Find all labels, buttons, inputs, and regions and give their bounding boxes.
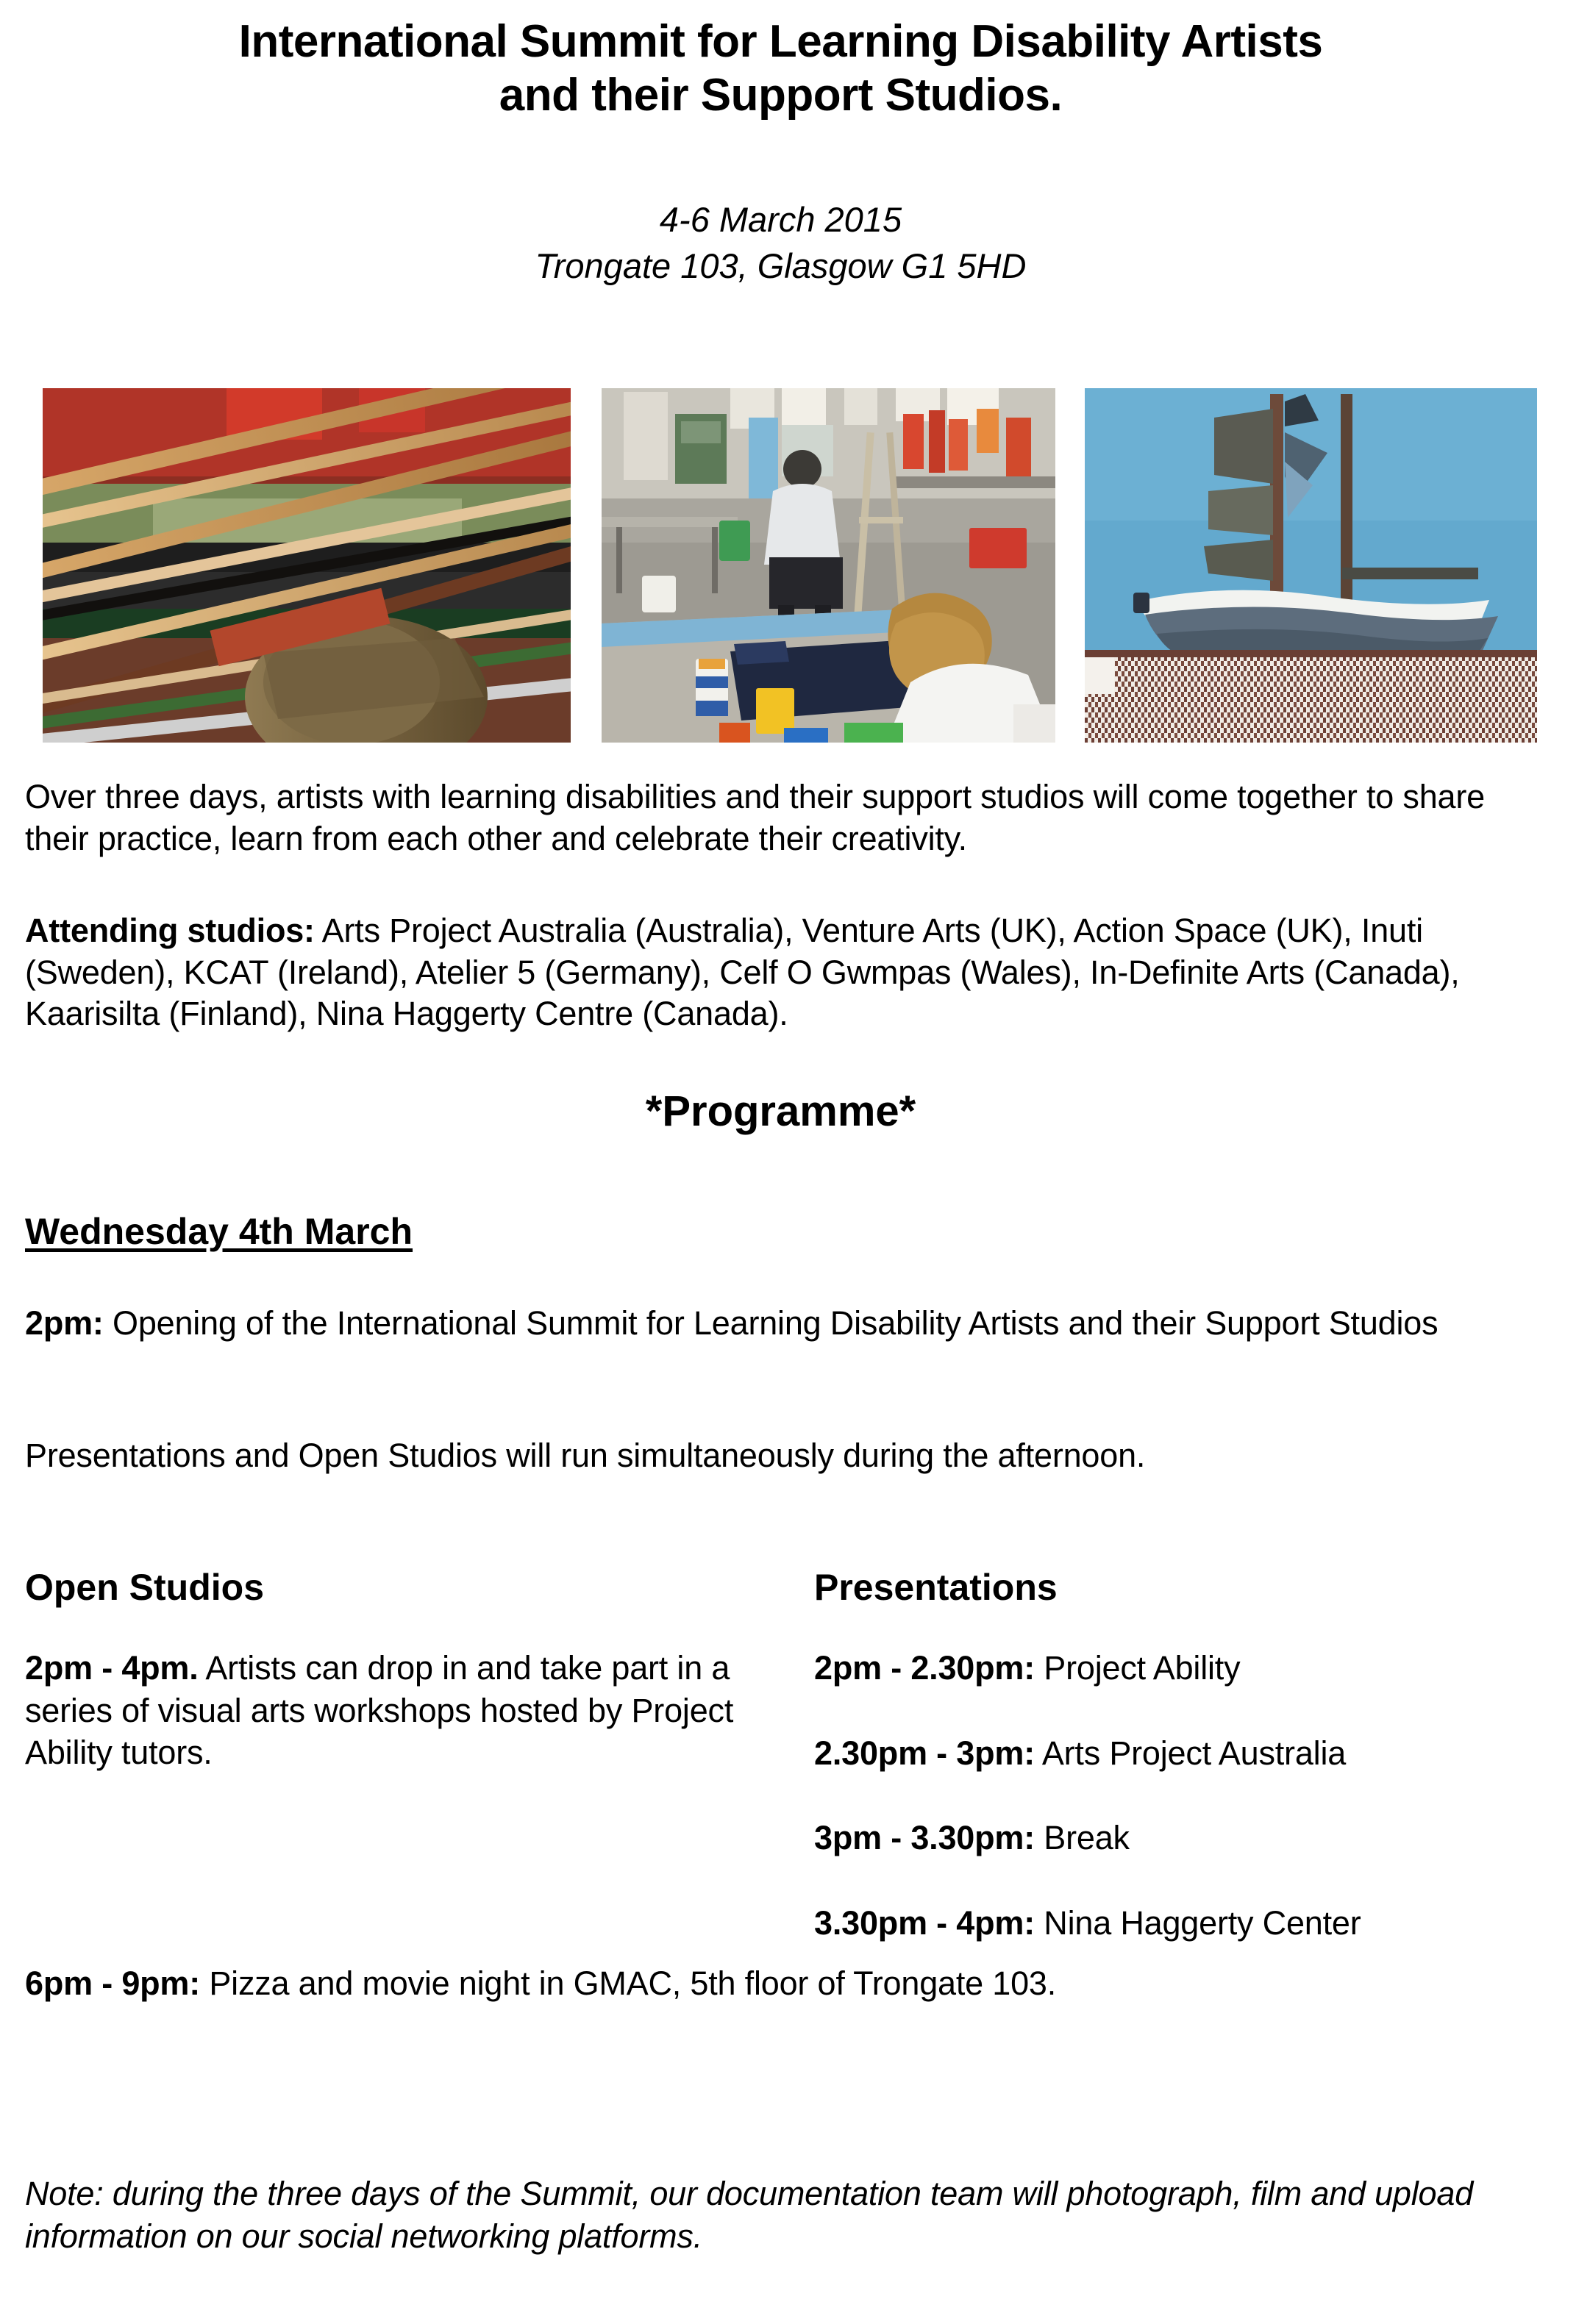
opening-session: 2pm: Opening of the International Summit…: [25, 1303, 1536, 1345]
page-title-line-2: and their Support Studios.: [25, 68, 1536, 122]
studio-interior-svg: [602, 388, 1055, 743]
intro-paragraph: Over three days, artists with learning d…: [25, 776, 1536, 859]
presentation-item-time: 2pm - 2.30pm:: [814, 1649, 1035, 1687]
simultaneous-note: Presentations and Open Studios will run …: [25, 1435, 1536, 1477]
attending-studios-wrap: Attending studios: Arts Project Australi…: [25, 910, 1536, 1035]
attending-studios-paragraph: Attending studios: Arts Project Australi…: [25, 910, 1536, 1035]
open-studios-heading: Open Studios: [25, 1566, 742, 1609]
page-title: International Summit for Learning Disabi…: [25, 15, 1536, 122]
intro-paragraph-wrap: Over three days, artists with learning d…: [25, 776, 1536, 859]
attending-studios-label: Attending studios:: [25, 912, 315, 949]
paint-brushes-svg: [43, 388, 571, 743]
presentation-item-text: Project Ability: [1035, 1649, 1240, 1687]
footer-note: Note: during the three days of the Summi…: [25, 2173, 1566, 2257]
open-studios-item: 2pm - 4pm. Artists can drop in and take …: [25, 1647, 742, 1774]
opening-session-text: Opening of the International Summit for …: [104, 1304, 1439, 1342]
presentation-item: 3.30pm - 4pm: Nina Haggerty Center: [814, 1902, 1550, 1945]
subtitle-block: 4-6 March 2015 Trongate 103, Glasgow G1 …: [25, 197, 1536, 290]
event-dates-and-venue: 4-6 March 2015 Trongate 103, Glasgow G1 …: [25, 197, 1536, 290]
evening-event-time: 6pm - 9pm:: [25, 1964, 200, 2002]
event-dates: 4-6 March 2015: [25, 197, 1536, 243]
boat-painting-illustration: [1085, 388, 1537, 743]
opening-session-wrap: 2pm: Opening of the International Summit…: [25, 1303, 1536, 1345]
presentation-item-text: Arts Project Australia: [1035, 1734, 1346, 1772]
open-studios-column: Open Studios 2pm - 4pm. Artists can drop…: [25, 1566, 742, 1774]
studio-interior-illustration: [602, 388, 1055, 743]
day-heading-wednesday: Wednesday 4th March: [25, 1210, 413, 1253]
open-studios-item-time: 2pm - 4pm.: [25, 1649, 199, 1687]
presentation-item: 2pm - 2.30pm: Project Ability: [814, 1647, 1550, 1690]
presentations-heading: Presentations: [814, 1566, 1550, 1609]
boat-painting-photo: [1085, 388, 1537, 743]
event-venue: Trongate 103, Glasgow G1 5HD: [25, 243, 1536, 290]
programme-heading: *Programme*: [25, 1087, 1536, 1136]
studio-interior-photo: [602, 388, 1055, 743]
evening-event: 6pm - 9pm: Pizza and movie night in GMAC…: [25, 1963, 1536, 2005]
evening-event-text: Pizza and movie night in GMAC, 5th floor…: [200, 1964, 1056, 2002]
presentation-item-time: 2.30pm - 3pm:: [814, 1734, 1035, 1772]
page-title-line-1: International Summit for Learning Disabi…: [25, 15, 1536, 68]
opening-session-time: 2pm:: [25, 1304, 104, 1342]
presentation-item-time: 3.30pm - 4pm:: [814, 1904, 1035, 1942]
presentation-item-time: 3pm - 3.30pm:: [814, 1819, 1035, 1856]
presentation-item: 2.30pm - 3pm: Arts Project Australia: [814, 1732, 1550, 1775]
paint-brushes-pile-photo: [43, 388, 571, 743]
paint-brushes-illustration: [43, 388, 571, 743]
boat-painting-svg: [1085, 388, 1537, 743]
presentation-item-text: Nina Haggerty Center: [1035, 1904, 1361, 1942]
simultaneous-note-wrap: Presentations and Open Studios will run …: [25, 1435, 1536, 1477]
evening-event-wrap: 6pm - 9pm: Pizza and movie night in GMAC…: [25, 1963, 1536, 2005]
presentations-column: Presentations 2pm - 2.30pm: Project Abil…: [814, 1566, 1550, 1944]
title-block: International Summit for Learning Disabi…: [25, 15, 1536, 122]
presentation-item-text: Break: [1035, 1819, 1130, 1856]
photo-strip: [43, 388, 1537, 743]
poster-page: International Summit for Learning Disabi…: [0, 0, 1590, 2324]
presentation-item: 3pm - 3.30pm: Break: [814, 1817, 1550, 1859]
